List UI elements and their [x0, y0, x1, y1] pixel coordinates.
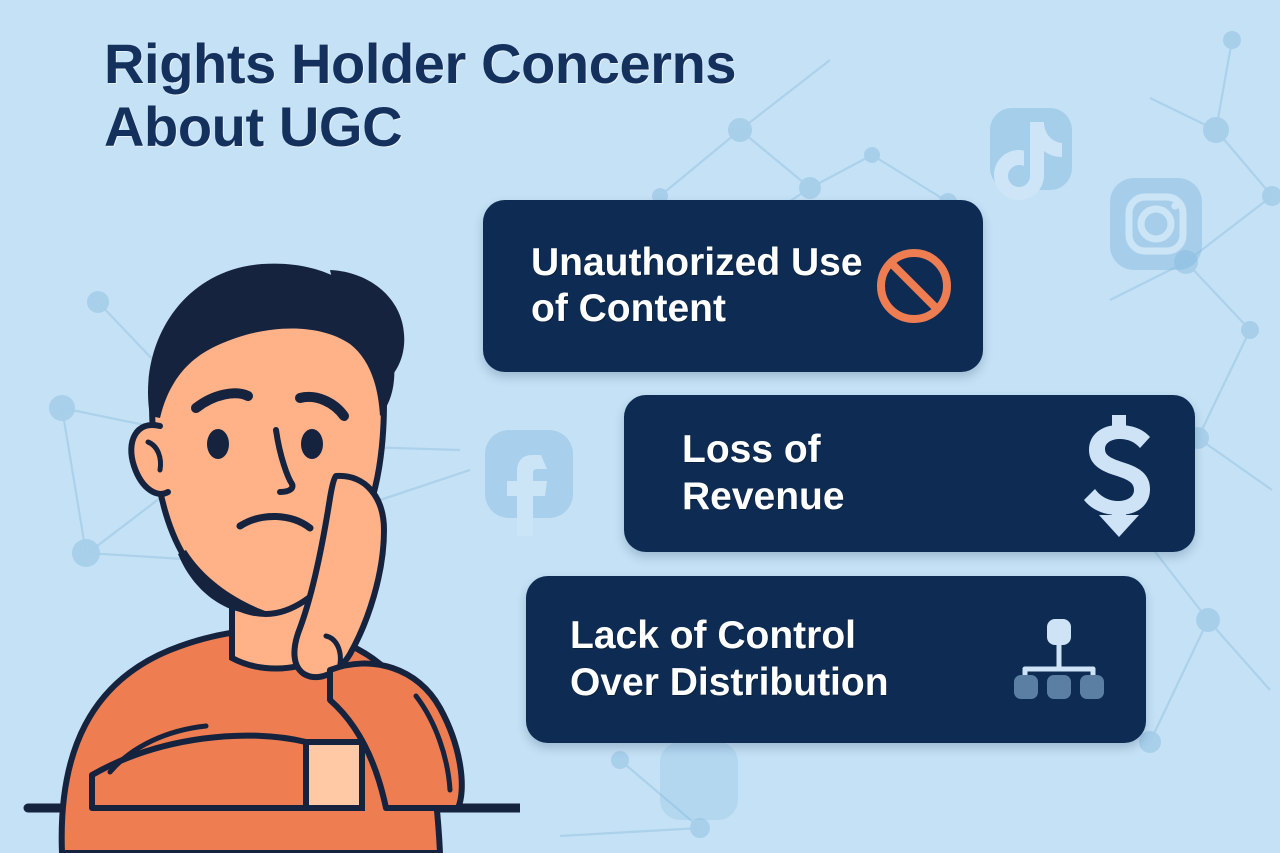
eye-left: [207, 429, 229, 459]
concern-card-label: Lack of Control Over Distribution: [570, 613, 889, 705]
prohibition-icon: [871, 243, 957, 329]
concern-card-label: Unauthorized Use of Content: [531, 240, 863, 332]
eye-right: [301, 429, 323, 459]
wrist-skin: [306, 742, 362, 808]
infographic-canvas: Rights Holder Concerns About UGC: [0, 0, 1280, 853]
worried-man-illustration: [0, 230, 520, 853]
concern-card-label: Loss of Revenue: [682, 427, 845, 519]
dollar-down-arrow-icon: [1077, 411, 1161, 537]
concern-card-loss-of-revenue[interactable]: Loss of Revenue: [624, 395, 1195, 552]
hierarchy-distribution-icon: [1014, 617, 1104, 703]
concern-card-lack-of-control[interactable]: Lack of Control Over Distribution: [526, 576, 1146, 743]
page-title: Rights Holder Concerns About UGC: [104, 33, 924, 158]
concern-card-unauthorized-use[interactable]: Unauthorized Use of Content: [483, 200, 983, 372]
